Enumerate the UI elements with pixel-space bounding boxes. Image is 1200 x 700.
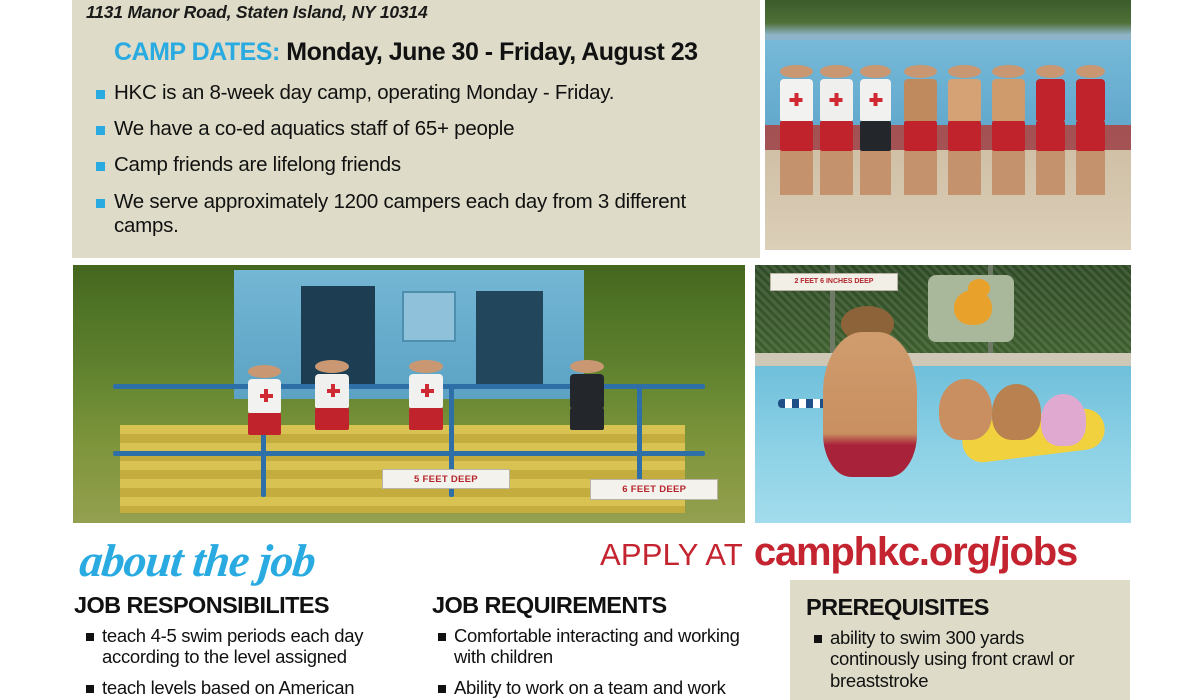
lifeguard-shorts <box>315 408 349 430</box>
red-cross-icon <box>790 93 803 106</box>
person-torso <box>904 79 937 121</box>
list-item-label: Comfortable interacting and working with… <box>454 625 770 668</box>
list-item-label: teach 4-5 swim periods each day accordin… <box>102 625 422 668</box>
person-legs <box>820 151 853 195</box>
list-item: Camp friends are lifelong friends <box>96 153 746 177</box>
red-cross-icon <box>327 384 337 394</box>
column-title: JOB REQUIREMENTS <box>430 592 770 619</box>
photo-staff-group-bleachers: 5 FEET DEEP 6 FEET DEEP <box>73 265 745 523</box>
camp-info-panel: 1131 Manor Road, Staten Island, NY 10314… <box>72 0 760 258</box>
building-door <box>476 291 543 384</box>
list-item-label: ability to swim 300 yards continously us… <box>830 627 1114 691</box>
apply-url-link[interactable]: camphkc.org/jobs <box>754 530 1077 575</box>
lifeguard-shorts <box>409 408 443 430</box>
list-item: We serve approximately 1200 campers each… <box>96 190 746 238</box>
instructor-body <box>823 332 917 476</box>
square-bullet-icon <box>96 162 105 171</box>
lifeguard-shirt <box>780 79 813 121</box>
person-legs <box>948 151 981 195</box>
column-prerequisites: PREREQUISITES ability to swim 300 yards … <box>790 580 1130 700</box>
lifeguard-swimsuit <box>1036 121 1065 151</box>
list-item-label: We serve approximately 1200 campers each… <box>114 190 746 238</box>
handrail <box>113 451 704 456</box>
camp-dates-value: Monday, June 30 - Friday, August 23 <box>286 38 697 66</box>
person-legs <box>1076 151 1105 195</box>
list-item-label: We have a co-ed aquatics staff of 65+ pe… <box>114 117 514 141</box>
column-title: JOB RESPONSIBILITES <box>72 592 422 619</box>
person-head <box>409 360 443 373</box>
list-item-label: Ability to work on a team and work <box>454 677 726 698</box>
lifeguard-shorts <box>948 121 981 151</box>
depth-sign-2-feet-6-inches: 2 FEET 6 INCHES DEEP <box>770 273 898 291</box>
list-item: We have a co-ed aquatics staff of 65+ pe… <box>96 117 746 141</box>
lifeguard-shorts <box>904 121 937 151</box>
person-lifeguard <box>409 360 443 430</box>
list-item: HKC is an 8-week day camp, operating Mon… <box>96 81 746 105</box>
person-lifeguard <box>1076 65 1105 195</box>
lifeguard-swimsuit <box>1036 79 1065 121</box>
lifeguard-shirt <box>409 374 443 408</box>
red-cross-icon <box>421 384 431 394</box>
person-shorts <box>570 408 604 430</box>
depth-sign-5-feet: 5 FEET DEEP <box>382 469 510 490</box>
list-item: Comfortable interacting and working with… <box>430 625 770 668</box>
list-item: Ability to work on a team and work <box>430 677 770 698</box>
person-lifeguard <box>780 65 813 195</box>
person-legs <box>780 151 813 195</box>
lifeguard-shirt <box>315 374 349 408</box>
list-item: ability to swim 300 yards continously us… <box>806 627 1114 691</box>
person-head <box>904 65 937 78</box>
column-job-responsibilities: JOB RESPONSIBILITES teach 4-5 swim perio… <box>72 592 422 700</box>
square-bullet-icon <box>86 685 94 693</box>
list-item-label: Camp friends are lifelong friends <box>114 153 401 177</box>
square-bullet-icon <box>96 90 105 99</box>
photo-swim-lesson: 2 FEET 6 INCHES DEEP <box>755 265 1131 523</box>
child-swimmer <box>1041 394 1086 446</box>
flyer-page: 1131 Manor Road, Staten Island, NY 10314… <box>0 0 1200 700</box>
camp-address: 1131 Manor Road, Staten Island, NY 10314 <box>86 0 746 23</box>
pool-coping <box>755 353 1131 366</box>
photo-lifeguard-group <box>765 0 1131 250</box>
child-swimmer <box>992 384 1041 441</box>
person-head <box>570 360 604 373</box>
person-head <box>860 65 891 78</box>
person-lifeguard <box>860 65 891 195</box>
camp-dates-line: CAMP DATES: Monday, June 30 - Friday, Au… <box>86 38 746 67</box>
red-cross-icon <box>869 93 882 106</box>
person-legs <box>904 151 937 195</box>
lifeguard-shirt <box>820 79 853 121</box>
duck-mural-plaque <box>928 275 1014 342</box>
lifeguard-swimsuit <box>1076 79 1105 121</box>
person-head <box>992 65 1025 78</box>
person-torso <box>992 79 1025 121</box>
depth-sign-6-feet: 6 FEET DEEP <box>590 479 718 500</box>
person-torso <box>570 374 604 408</box>
person-head <box>315 360 349 373</box>
lifeguard-shorts <box>992 121 1025 151</box>
red-cross-icon <box>260 389 270 399</box>
person-legs <box>860 151 891 195</box>
lifeguard-swimsuit <box>1076 121 1105 151</box>
person-head <box>1036 65 1065 78</box>
camp-info-bullet-list: HKC is an 8-week day camp, operating Mon… <box>86 81 746 238</box>
square-bullet-icon <box>438 633 446 641</box>
person-lifeguard <box>315 360 349 430</box>
list-item-label: HKC is an 8-week day camp, operating Mon… <box>114 81 614 105</box>
person-lifeguard <box>948 65 981 195</box>
person-lifeguard <box>570 360 604 430</box>
person-lifeguard <box>820 65 853 195</box>
person-lifeguard <box>248 365 282 435</box>
red-cross-icon <box>830 93 843 106</box>
square-bullet-icon <box>86 633 94 641</box>
building-window <box>402 291 456 343</box>
person-head <box>948 65 981 78</box>
person-head <box>820 65 853 78</box>
person-head <box>780 65 813 78</box>
person-lifeguard <box>992 65 1025 195</box>
square-bullet-icon <box>96 199 105 208</box>
apply-call-to-action[interactable]: APPLY AT camphkc.org/jobs <box>600 530 1077 575</box>
child-swimmer <box>939 379 992 441</box>
camp-dates-label: CAMP DATES: <box>114 38 280 66</box>
column-title: PREREQUISITES <box>806 594 1114 621</box>
apply-at-label: APPLY AT <box>600 537 743 573</box>
lifeguard-shorts <box>780 121 813 151</box>
list-item: teach 4-5 swim periods each day accordin… <box>72 625 422 668</box>
person-lifeguard <box>1036 65 1065 195</box>
person-head <box>248 365 282 378</box>
person-head <box>1076 65 1105 78</box>
lifeguard-shirt <box>860 79 891 121</box>
about-the-job-heading: about the job <box>77 534 318 587</box>
person-legs <box>1036 151 1065 195</box>
person-lifeguard <box>904 65 937 195</box>
lifeguard-shorts <box>820 121 853 151</box>
lifeguard-shorts <box>860 121 891 151</box>
square-bullet-icon <box>96 126 105 135</box>
person-legs <box>992 151 1025 195</box>
person-torso <box>948 79 981 121</box>
column-job-requirements: JOB REQUIREMENTS Comfortable interacting… <box>430 592 770 700</box>
list-item: teach levels based on American <box>72 677 422 698</box>
lifeguard-shirt <box>248 379 282 413</box>
square-bullet-icon <box>438 685 446 693</box>
list-item-label: teach levels based on American <box>102 677 354 698</box>
lifeguard-shorts <box>248 413 282 435</box>
square-bullet-icon <box>814 635 822 643</box>
